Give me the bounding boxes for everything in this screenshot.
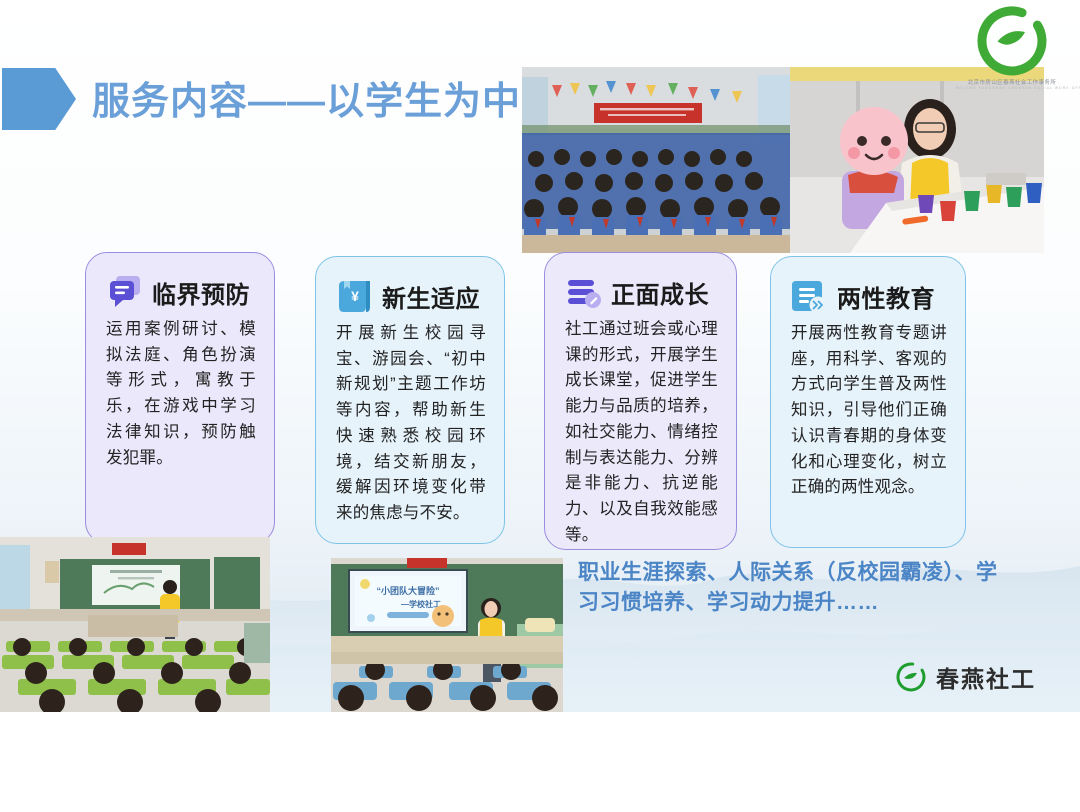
document-code-icon [791, 277, 829, 315]
card-header: 临界预防 [106, 273, 256, 311]
card-body: 社工通过班会或心理课的形式，开展学生成长课堂，促进学生能力与品质的培养，如社交能… [565, 317, 718, 549]
service-card-临界预防[interactable]: 临界预防 运用案例研讨、模拟法庭、角色扮演等形式，寓教于乐，在游戏中学习法律知识… [85, 252, 275, 544]
service-card-新生适应[interactable]: ¥ 新生适应 开展新生校园寻宝、游园会、“初中新规划”主题工作坊等内容，帮助新生… [315, 256, 505, 544]
swallow-circle-logo-icon [896, 662, 926, 692]
card-header: 正面成长 [565, 273, 718, 311]
card-header: ¥ 新生适应 [336, 277, 486, 315]
scroll-yuan-icon: ¥ [336, 277, 374, 315]
svg-text:“小团队大冒险”: “小团队大冒险” [376, 585, 439, 596]
bars-badge-icon [565, 273, 603, 311]
svg-text:—学校社工: —学校社工 [401, 599, 441, 609]
slide-canvas: 服务内容——以学生为中心 [0, 0, 1080, 712]
card-title: 两性教育 [837, 279, 935, 314]
org-name-en: BEIJING FANGSHAN CHUNYAN SOCIAL WORK OFF… [956, 86, 1068, 90]
card-title: 正面成长 [611, 275, 709, 310]
bottom-note-text: 职业生涯探索、人际关系（反校园霸凌）、学习习惯培养、学习动力提升…… [578, 558, 1014, 618]
org-logo-bottom: 春燕社工 [896, 660, 1036, 694]
card-body: 运用案例研讨、模拟法庭、角色扮演等形式，寓教于乐，在游戏中学习法律知识，预防触发… [106, 317, 256, 471]
card-body: 开展新生校园寻宝、游园会、“初中新规划”主题工作坊等内容，帮助新生快速熟悉校园环… [336, 321, 486, 527]
svg-text:¥: ¥ [351, 288, 359, 304]
title-chevron-shape [2, 68, 76, 130]
swallow-circle-logo-icon [977, 6, 1047, 76]
photo-class-blue: “小团队大冒险” —学校社工 [331, 558, 563, 712]
photo-assembly [522, 67, 790, 253]
card-body: 开展两性教育专题讲座，用科学、客观的方式向学生普及两性知识，引导他们正确认识青春… [791, 321, 947, 501]
service-card-两性教育[interactable]: 两性教育 开展两性教育专题讲座，用科学、客观的方式向学生普及两性知识，引导他们正… [770, 256, 966, 548]
page-title: 服务内容——以学生为中心 [92, 70, 560, 125]
service-card-正面成长[interactable]: 正面成长 社工通过班会或心理课的形式，开展学生成长课堂，促进学生能力与品质的培养… [544, 252, 737, 550]
card-title: 临界预防 [152, 275, 250, 310]
org-logo-top: 北京市房山区春燕社会工作事务所 BEIJING FANGSHAN CHUNYAN… [956, 6, 1068, 102]
org-name-cn: 北京市房山区春燕社会工作事务所 [956, 78, 1068, 86]
brand-name: 春燕社工 [936, 660, 1036, 694]
photo-class-green [0, 537, 270, 712]
chat-bubble-icon [106, 273, 144, 311]
card-header: 两性教育 [791, 277, 947, 315]
card-title: 新生适应 [382, 279, 480, 314]
